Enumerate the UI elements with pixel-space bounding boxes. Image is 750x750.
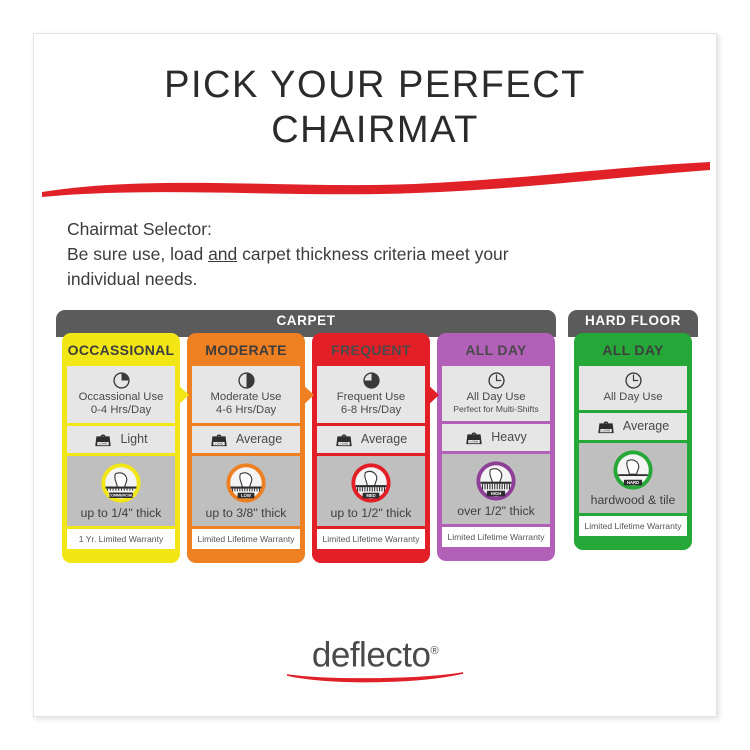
intro-emphasis-and: and xyxy=(208,244,237,264)
chairmat-selector-matrix: CARPET HARD FLOOR OCCASSIONAL Occassiona… xyxy=(56,310,698,555)
usage-hours: 0-4 Hrs/Day xyxy=(69,404,173,417)
load-weight-icon: LOAD xyxy=(210,430,228,448)
load-cell: LOAD Average xyxy=(579,413,687,440)
flow-arrow-occassional-to-moderate xyxy=(174,381,190,414)
badge-label-text: HIGH xyxy=(491,491,501,496)
registered-mark: ® xyxy=(430,645,438,657)
load-weight-icon: LOAD xyxy=(465,428,483,446)
clock-half-icon xyxy=(237,371,256,390)
svg-text:LOAD: LOAD xyxy=(99,442,108,446)
brand-logo: deflecto® xyxy=(34,632,716,685)
warranty-cell: Limited Lifetime Warranty xyxy=(317,529,425,549)
usage-subtitle: Perfect for Multi-Shifts xyxy=(444,404,548,415)
usage-title: Moderate Use xyxy=(194,391,298,404)
usage-title: Occassional Use xyxy=(69,391,173,404)
title-swoosh-divider xyxy=(34,161,716,197)
column-title: OCCASSIONAL xyxy=(62,333,180,366)
clock-quarter-icon xyxy=(112,371,131,390)
load-label: Heavy xyxy=(491,430,526,444)
usage-cell: All Day Use Perfect for Multi-Shifts xyxy=(442,366,550,421)
usage-cell: Moderate Use 4-6 Hrs/Day xyxy=(192,366,300,423)
svg-text:LOAD: LOAD xyxy=(214,442,223,446)
load-weight-icon: LOAD xyxy=(597,417,615,435)
intro-line-2-b: carpet thickness criteria meet your xyxy=(237,244,508,264)
column-title: FREQUENT xyxy=(312,333,430,366)
svg-text:LOAD: LOAD xyxy=(339,442,348,446)
badge-label-text: LOW xyxy=(241,493,251,498)
load-cell: LOAD Light xyxy=(67,426,175,453)
warranty-cell: Limited Lifetime Warranty xyxy=(579,516,687,536)
clock-full-icon xyxy=(624,371,643,390)
thickness-cell: LOW up to 3/8" thick xyxy=(192,456,300,526)
usage-cell: Occassional Use 0-4 Hrs/Day xyxy=(67,366,175,423)
usage-cell: All Day Use xyxy=(579,366,687,410)
intro-line-2: Be sure use, load and carpet thickness c… xyxy=(67,242,682,267)
thickness-label: up to 1/2" thick xyxy=(319,506,423,521)
thickness-label: hardwood & tile xyxy=(581,493,685,508)
chairmat-high-pile-icon: HIGH xyxy=(475,460,517,502)
matrix-column-moderate[interactable]: MODERATE Moderate Use 4-6 Hrs/Day LOAD xyxy=(187,333,305,563)
badge-label-text: COMMERCIAL xyxy=(109,494,135,498)
page-title: PICK YOUR PERFECT CHAIRMAT xyxy=(34,34,716,153)
warranty-cell: 1 Yr. Limited Warranty xyxy=(67,529,175,549)
logo-text: deflecto xyxy=(312,636,431,675)
matrix-column-all-day-hard-floor[interactable]: ALL DAY All Day Use LOAD xyxy=(574,333,692,550)
load-label: Average xyxy=(361,432,407,446)
thickness-label: over 1/2" thick xyxy=(444,504,548,519)
flow-arrow-frequent-to-all-day xyxy=(424,381,440,414)
title-line-2: CHAIRMAT xyxy=(34,108,716,153)
load-label: Light xyxy=(120,432,147,446)
load-cell: LOAD Average xyxy=(192,426,300,453)
chairmat-medium-pile-icon: MED xyxy=(350,462,392,504)
svg-text:LOAD: LOAD xyxy=(601,429,610,433)
column-title: MODERATE xyxy=(187,333,305,366)
chairmat-commercial-icon: COMMERCIAL xyxy=(100,462,142,504)
thickness-label: up to 3/8" thick xyxy=(194,506,298,521)
intro-line-2-a: Be sure use, load xyxy=(67,244,208,264)
load-cell: LOAD Heavy xyxy=(442,424,550,451)
clock-three-quarter-icon xyxy=(362,371,381,390)
badge-label-text: MED xyxy=(366,493,375,498)
load-weight-icon: LOAD xyxy=(94,430,112,448)
usage-hours: 6-8 Hrs/Day xyxy=(319,404,423,417)
usage-title: All Day Use xyxy=(444,391,548,404)
matrix-column-occassional[interactable]: OCCASSIONAL Occassional Use 0-4 Hrs/Day … xyxy=(62,333,180,563)
title-line-1: PICK YOUR PERFECT xyxy=(34,63,716,108)
intro-line-1: Chairmat Selector: xyxy=(67,217,682,242)
load-weight-icon: LOAD xyxy=(335,430,353,448)
usage-title: Frequent Use xyxy=(319,391,423,404)
thickness-cell: MED up to 1/2" thick xyxy=(317,456,425,526)
load-label: Average xyxy=(623,419,669,433)
thickness-cell: HIGH over 1/2" thick xyxy=(442,454,550,524)
warranty-cell: Limited Lifetime Warranty xyxy=(192,529,300,549)
thickness-label: up to 1/4" thick xyxy=(69,506,173,521)
poster-card: PICK YOUR PERFECT CHAIRMAT Chairmat Sele… xyxy=(33,33,717,717)
intro-text: Chairmat Selector: Be sure use, load and… xyxy=(67,217,682,292)
chairmat-hard-floor-icon: HARD xyxy=(612,449,654,491)
clock-full-icon xyxy=(487,371,506,390)
warranty-cell: Limited Lifetime Warranty xyxy=(442,527,550,547)
chairmat-low-pile-icon: LOW xyxy=(225,462,267,504)
thickness-cell: COMMERCIAL up to 1/4" thick xyxy=(67,456,175,526)
flow-arrow-moderate-to-frequent xyxy=(299,381,315,414)
matrix-column-frequent[interactable]: FREQUENT Frequent Use 6-8 Hrs/Day LOAD xyxy=(312,333,430,563)
usage-title: All Day Use xyxy=(581,391,685,404)
matrix-column-all-day-carpet[interactable]: ALL DAY All Day Use Perfect for Multi-Sh… xyxy=(437,333,555,561)
thickness-cell: HARD hardwood & tile xyxy=(579,443,687,513)
column-title: ALL DAY xyxy=(574,333,692,366)
load-label: Average xyxy=(236,432,282,446)
badge-label-text: HARD xyxy=(627,480,639,485)
usage-hours: 4-6 Hrs/Day xyxy=(194,404,298,417)
column-title: ALL DAY xyxy=(437,333,555,366)
logo-wordmark: deflecto® xyxy=(312,632,438,675)
intro-line-3: individual needs. xyxy=(67,267,682,292)
load-cell: LOAD Average xyxy=(317,426,425,453)
usage-cell: Frequent Use 6-8 Hrs/Day xyxy=(317,366,425,423)
svg-text:LOAD: LOAD xyxy=(470,440,479,444)
